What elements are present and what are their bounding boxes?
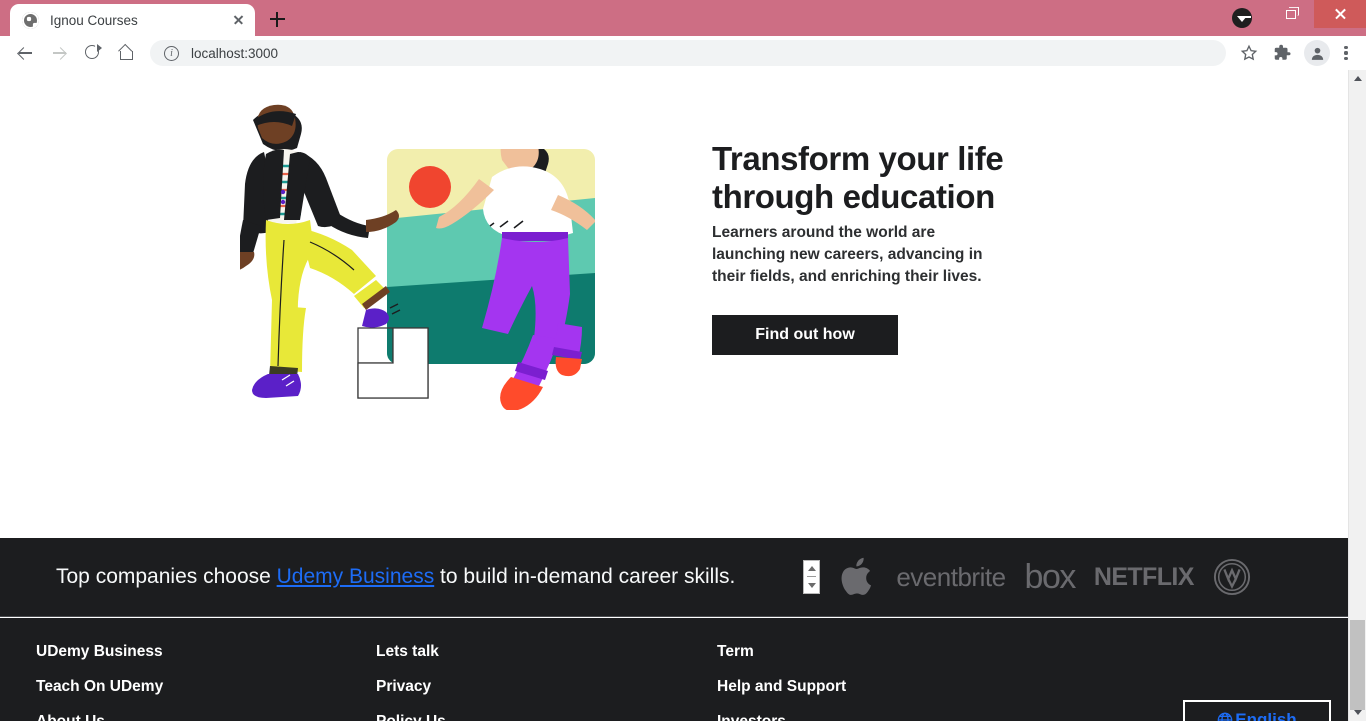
address-bar[interactable]: i localhost:3000 [150, 40, 1226, 66]
two-people-climbing-steps-illustration [240, 80, 610, 410]
udemy-business-link[interactable]: Udemy Business [277, 565, 435, 588]
forward-arrow-icon[interactable] [42, 36, 76, 70]
language-button-label: English [1235, 710, 1296, 721]
companies-banner: Top companies choose Udemy Business to b… [0, 538, 1348, 617]
page-title: Transform your life through education [712, 140, 1042, 216]
broken-image-placeholder [803, 560, 820, 594]
banner-text: Top companies choose Udemy Business to b… [56, 565, 735, 589]
back-arrow-icon[interactable] [8, 36, 42, 70]
hero-subtext: Learners around the world are launching … [712, 222, 1002, 288]
footer-column-3: Term Help and Support Investors [717, 643, 846, 721]
address-bar-url: localhost:3000 [191, 46, 278, 61]
close-icon[interactable] [227, 9, 249, 31]
company-logos: eventbrite box NETFLIX [803, 555, 1250, 599]
language-button[interactable]: English [1183, 700, 1331, 721]
bookmark-star-icon[interactable] [1232, 36, 1266, 70]
profile-avatar-icon[interactable] [1300, 36, 1334, 70]
footer-link[interactable]: Help and Support [717, 678, 846, 696]
page-scrollbar[interactable] [1348, 70, 1366, 721]
footer-column-1: UDemy Business Teach On UDemy About Us [36, 643, 163, 721]
menu-kebab-icon[interactable] [1334, 41, 1358, 65]
site-footer: UDemy Business Teach On UDemy About Us L… [0, 618, 1348, 721]
footer-column-2: Lets talk Privacy Policy Us [376, 643, 446, 721]
globe-icon [22, 12, 39, 29]
browser-tab[interactable]: Ignou Courses [10, 4, 255, 36]
apple-logo [839, 555, 877, 599]
eventbrite-logo: eventbrite [896, 562, 1005, 593]
tab-title: Ignou Courses [50, 13, 227, 28]
banner-text-after: to build in-demand career skills. [434, 565, 735, 588]
new-tab-button[interactable] [263, 5, 291, 33]
footer-link[interactable]: Investors [717, 713, 846, 721]
find-out-how-button[interactable]: Find out how [712, 315, 898, 355]
home-icon[interactable] [110, 36, 144, 70]
footer-link[interactable]: Teach On UDemy [36, 678, 163, 696]
footer-link[interactable]: Lets talk [376, 643, 446, 661]
web-page: Transform your life through education Le… [0, 70, 1348, 721]
info-icon[interactable]: i [164, 46, 179, 61]
netflix-logo: NETFLIX [1094, 563, 1194, 592]
page-viewport: Transform your life through education Le… [0, 70, 1366, 721]
minimize-icon[interactable] [1222, 0, 1268, 28]
footer-link[interactable]: UDemy Business [36, 643, 163, 661]
extensions-puzzle-icon[interactable] [1266, 36, 1300, 70]
footer-link[interactable]: Policy Us [376, 713, 446, 721]
box-logo: box [1025, 560, 1075, 594]
browser-toolbar: i localhost:3000 [0, 36, 1366, 70]
scroll-up-icon[interactable] [1349, 70, 1366, 87]
scroll-down-icon[interactable] [1349, 704, 1366, 721]
hero-section: Transform your life through education Le… [0, 70, 1348, 606]
footer-link[interactable]: About Us [36, 713, 163, 721]
banner-text-before: Top companies choose [56, 565, 277, 588]
close-icon[interactable] [1314, 0, 1366, 28]
footer-link[interactable]: Term [717, 643, 846, 661]
browser-window: Ignou Courses i localhost:3000 [0, 0, 1366, 721]
window-controls [1222, 0, 1366, 28]
reload-icon[interactable] [76, 36, 110, 70]
volkswagen-logo [1213, 558, 1251, 596]
globe-icon [1217, 712, 1233, 721]
browser-titlebar: Ignou Courses [0, 0, 1366, 36]
footer-link[interactable]: Privacy [376, 678, 446, 696]
scrollbar-thumb[interactable] [1350, 620, 1365, 710]
maximize-icon[interactable] [1268, 0, 1314, 28]
